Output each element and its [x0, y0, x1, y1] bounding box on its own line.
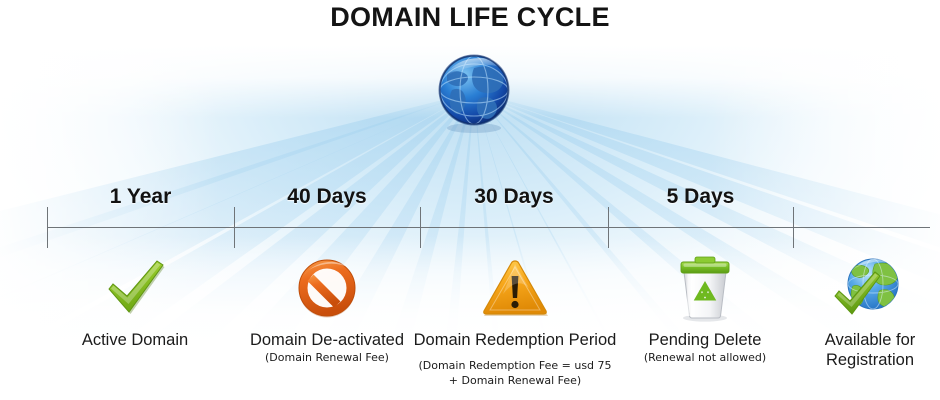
- stage-title: Active Domain: [35, 330, 235, 350]
- timeline-axis: [47, 227, 930, 228]
- stage-title: Available for Registration: [800, 330, 940, 370]
- stage-subtitle: (Renewal not allowed): [610, 351, 800, 365]
- stage-subtitle-line2: + Domain Renewal Fee): [410, 374, 620, 388]
- period-label-5-days: 5 Days: [608, 184, 793, 210]
- period-label-40-days: 40 Days: [234, 184, 420, 210]
- stage-title: Domain De-activated: [222, 330, 432, 350]
- stage-subtitle: (Domain Redemption Fee = usd 75: [410, 359, 620, 373]
- timeline-tick: [793, 207, 794, 248]
- globe-check-icon: [800, 252, 940, 324]
- stage-domain-redemption-period: Domain Redemption Period (Domain Redempt…: [410, 252, 620, 388]
- stage-pending-delete: Pending Delete (Renewal not allowed): [610, 252, 800, 365]
- timeline-tick: [47, 207, 48, 248]
- period-label-1-year: 1 Year: [47, 184, 234, 210]
- stage-domain-deactivated: Domain De-activated (Domain Renewal Fee): [222, 252, 432, 365]
- stage-title: Domain Redemption Period: [410, 330, 620, 350]
- globe-icon: [430, 48, 518, 136]
- stage-active-domain: Active Domain: [35, 252, 235, 350]
- timeline-tick: [420, 207, 421, 248]
- period-label-30-days: 30 Days: [420, 184, 608, 210]
- orange-prohibition-icon: [222, 252, 432, 324]
- recycle-bin-icon: [610, 252, 800, 324]
- timeline-tick: [234, 207, 235, 248]
- green-check-icon: [35, 252, 235, 324]
- stage-available-for-registration: Available for Registration: [800, 252, 940, 370]
- stage-subtitle: (Domain Renewal Fee): [222, 351, 432, 365]
- page-title: DOMAIN LIFE CYCLE: [0, 2, 940, 33]
- timeline-tick: [608, 207, 609, 248]
- stage-title: Pending Delete: [610, 330, 800, 350]
- domain-life-cycle-infographic: DOMAIN LIFE CYCLE: [0, 0, 940, 400]
- orange-warning-triangle-icon: [410, 252, 620, 324]
